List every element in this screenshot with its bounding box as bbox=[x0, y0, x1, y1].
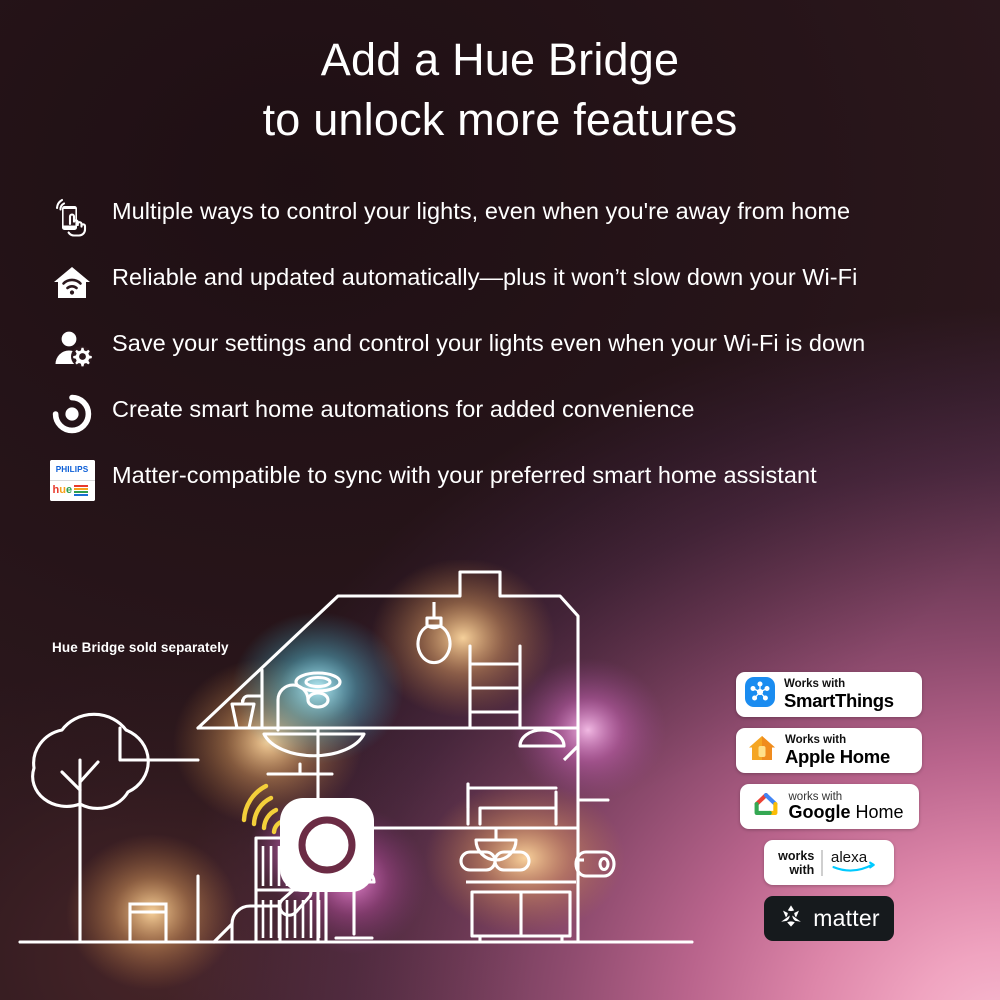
badge-eyebrow: Works with bbox=[784, 679, 894, 691]
philips-hue-logo-icon: PHILIPS hue bbox=[46, 454, 98, 506]
badge-label-bold: Google bbox=[789, 802, 851, 822]
alexa-works-line2: with bbox=[789, 863, 814, 877]
feature-item-matter-compatible: PHILIPS hue Matter-compatible to sync wi… bbox=[46, 454, 866, 506]
badge-label: matter bbox=[813, 905, 879, 932]
badge-google-home[interactable]: works with Google Home bbox=[740, 784, 919, 829]
headline-line-2: to unlock more features bbox=[0, 90, 1000, 150]
hue-bridge-device bbox=[280, 798, 374, 892]
headline-line-1: Add a Hue Bridge bbox=[0, 30, 1000, 90]
glow-spotlights bbox=[425, 782, 625, 934]
compatibility-badge-list: Works with SmartThings Works with Apple … bbox=[736, 672, 922, 941]
google-home-icon bbox=[751, 789, 781, 824]
feature-item-label: Reliable and updated automatically—plus … bbox=[112, 256, 857, 294]
apple-home-icon bbox=[746, 732, 778, 769]
phone-tap-icon bbox=[46, 190, 98, 242]
hue-wordmark: hue bbox=[53, 485, 73, 496]
badge-eyebrow: Works with bbox=[785, 735, 890, 747]
badge-label-light: Home bbox=[856, 802, 904, 822]
badge-label: Apple Home bbox=[785, 748, 890, 767]
house-wifi-icon bbox=[46, 256, 98, 308]
badge-matter[interactable]: matter bbox=[764, 896, 894, 941]
alexa-works-line1: works bbox=[778, 849, 814, 863]
feature-item-label: Matter-compatible to sync with your pref… bbox=[112, 454, 817, 492]
matter-icon bbox=[778, 903, 804, 934]
feature-item-label: Multiple ways to control your lights, ev… bbox=[112, 190, 850, 228]
automation-ring-icon bbox=[46, 388, 98, 440]
promo-banner: Add a Hue Bridge to unlock more features bbox=[0, 0, 1000, 1000]
svg-text:alexa: alexa bbox=[831, 849, 868, 866]
badge-divider bbox=[821, 850, 823, 876]
feature-item-automations: Create smart home automations for added … bbox=[46, 388, 866, 440]
badge-smartthings[interactable]: Works with SmartThings bbox=[736, 672, 922, 717]
badge-alexa[interactable]: works with alexa bbox=[764, 840, 894, 885]
feature-item-reliable-updates: Reliable and updated automatically—plus … bbox=[46, 256, 866, 308]
feature-item-save-settings: Save your settings and control your ligh… bbox=[46, 322, 866, 374]
feature-item-label: Create smart home automations for added … bbox=[112, 388, 695, 426]
page-title: Add a Hue Bridge to unlock more features bbox=[0, 30, 1000, 150]
badge-apple-home[interactable]: Works with Apple Home bbox=[736, 728, 922, 773]
hue-color-bars bbox=[74, 485, 88, 496]
user-settings-icon bbox=[46, 322, 98, 374]
feature-list: Multiple ways to control your lights, ev… bbox=[46, 190, 866, 520]
alexa-icon: alexa bbox=[830, 845, 880, 880]
smartthings-icon bbox=[745, 677, 775, 712]
philips-wordmark: PHILIPS bbox=[56, 465, 89, 474]
feature-item-remote-control: Multiple ways to control your lights, ev… bbox=[46, 190, 866, 242]
badge-label: SmartThings bbox=[784, 692, 894, 711]
feature-item-label: Save your settings and control your ligh… bbox=[112, 322, 865, 360]
smart-home-cutaway-illustration bbox=[0, 560, 740, 1000]
